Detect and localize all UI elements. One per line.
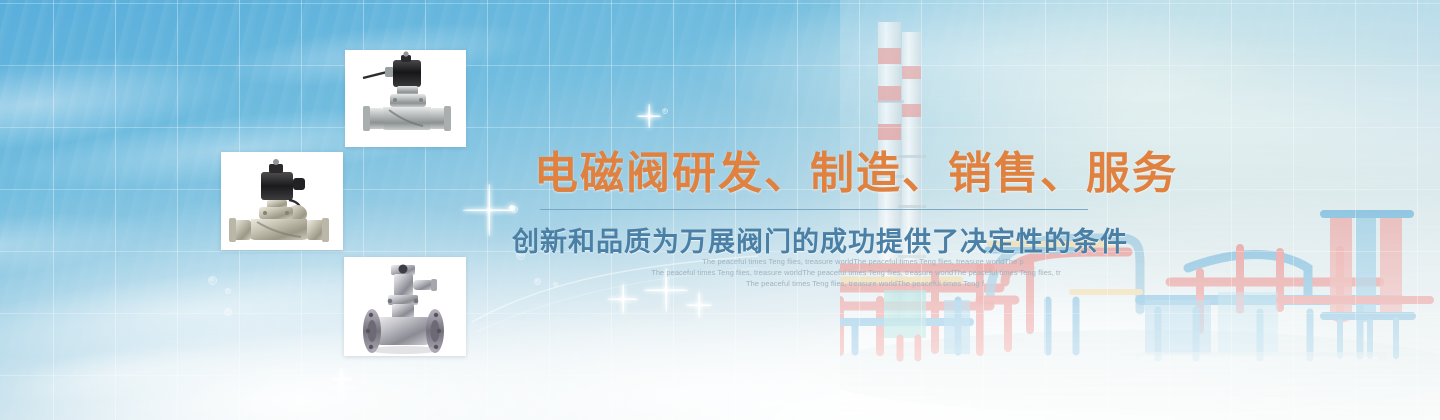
solenoid-valve-threaded-left-icon (221, 152, 343, 250)
bokeh-2 (225, 288, 231, 294)
hero-banner: 电磁阀研发、制造、销售、服务 创新和品质为万展阀门的成功提供了决定性的条件 Th… (0, 0, 1440, 420)
blurb-line-3: The peaceful times Teng flies, treasure … (636, 278, 1076, 289)
rule-accent-dot (509, 205, 515, 211)
bokeh-6 (534, 278, 541, 285)
banner-blurb: The peaceful times Teng flies, treasure … (636, 256, 1076, 289)
industrial-plant-illustration (840, 0, 1440, 420)
bokeh-3 (224, 308, 232, 316)
bokeh-1 (208, 276, 217, 285)
sparkle-6 (330, 368, 352, 390)
bokeh-7 (553, 282, 558, 287)
product-tile-3[interactable] (344, 257, 466, 356)
sparkle-5 (637, 104, 661, 128)
blurb-line-2: The peaceful times Teng flies, treasure … (636, 267, 1076, 278)
sparkle-1 (463, 184, 515, 236)
solenoid-valve-threaded-top-icon (345, 50, 466, 147)
product-tile-1[interactable] (345, 50, 466, 147)
headline-divider (540, 209, 1088, 210)
product-tile-2[interactable] (221, 152, 343, 250)
blurb-line-1: The peaceful times Teng flies, treasure … (636, 256, 1076, 267)
banner-headline: 电磁阀研发、制造、销售、服务 (534, 150, 1094, 198)
sparkle-4 (686, 292, 712, 318)
sparkle-3 (608, 284, 638, 314)
banner-subheadline: 创新和品质为万展阀门的成功提供了决定性的条件 (512, 220, 1112, 259)
sparkle-7 (327, 373, 357, 403)
bokeh-8 (662, 108, 668, 114)
solenoid-valve-flanged-bottom-icon (344, 257, 466, 356)
